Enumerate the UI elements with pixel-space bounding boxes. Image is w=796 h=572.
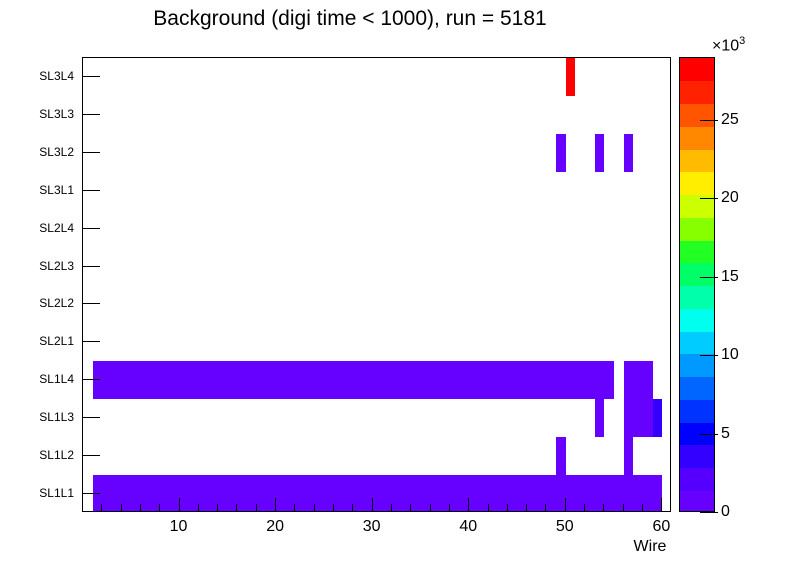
- palette-tick-label: 20: [721, 190, 739, 206]
- palette-tick-label: 25: [721, 112, 739, 128]
- palette-ticks-layer: 0510152025: [0, 0, 796, 572]
- palette-exponent-label: ×103: [712, 33, 745, 54]
- palette-exponent-power: 3: [739, 35, 745, 47]
- palette-tick: [700, 198, 718, 199]
- palette-tick: [700, 355, 718, 356]
- palette-tick-label: 0: [721, 504, 730, 520]
- palette-tick: [700, 512, 718, 513]
- root-canvas: Background (digi time < 1000), run = 518…: [0, 0, 796, 572]
- palette-tick: [700, 120, 718, 121]
- palette-tick: [700, 434, 718, 435]
- palette-tick: [700, 277, 718, 278]
- palette-tick-label: 5: [721, 426, 730, 442]
- palette-tick-label: 10: [721, 347, 739, 363]
- palette-tick-label: 15: [721, 269, 739, 285]
